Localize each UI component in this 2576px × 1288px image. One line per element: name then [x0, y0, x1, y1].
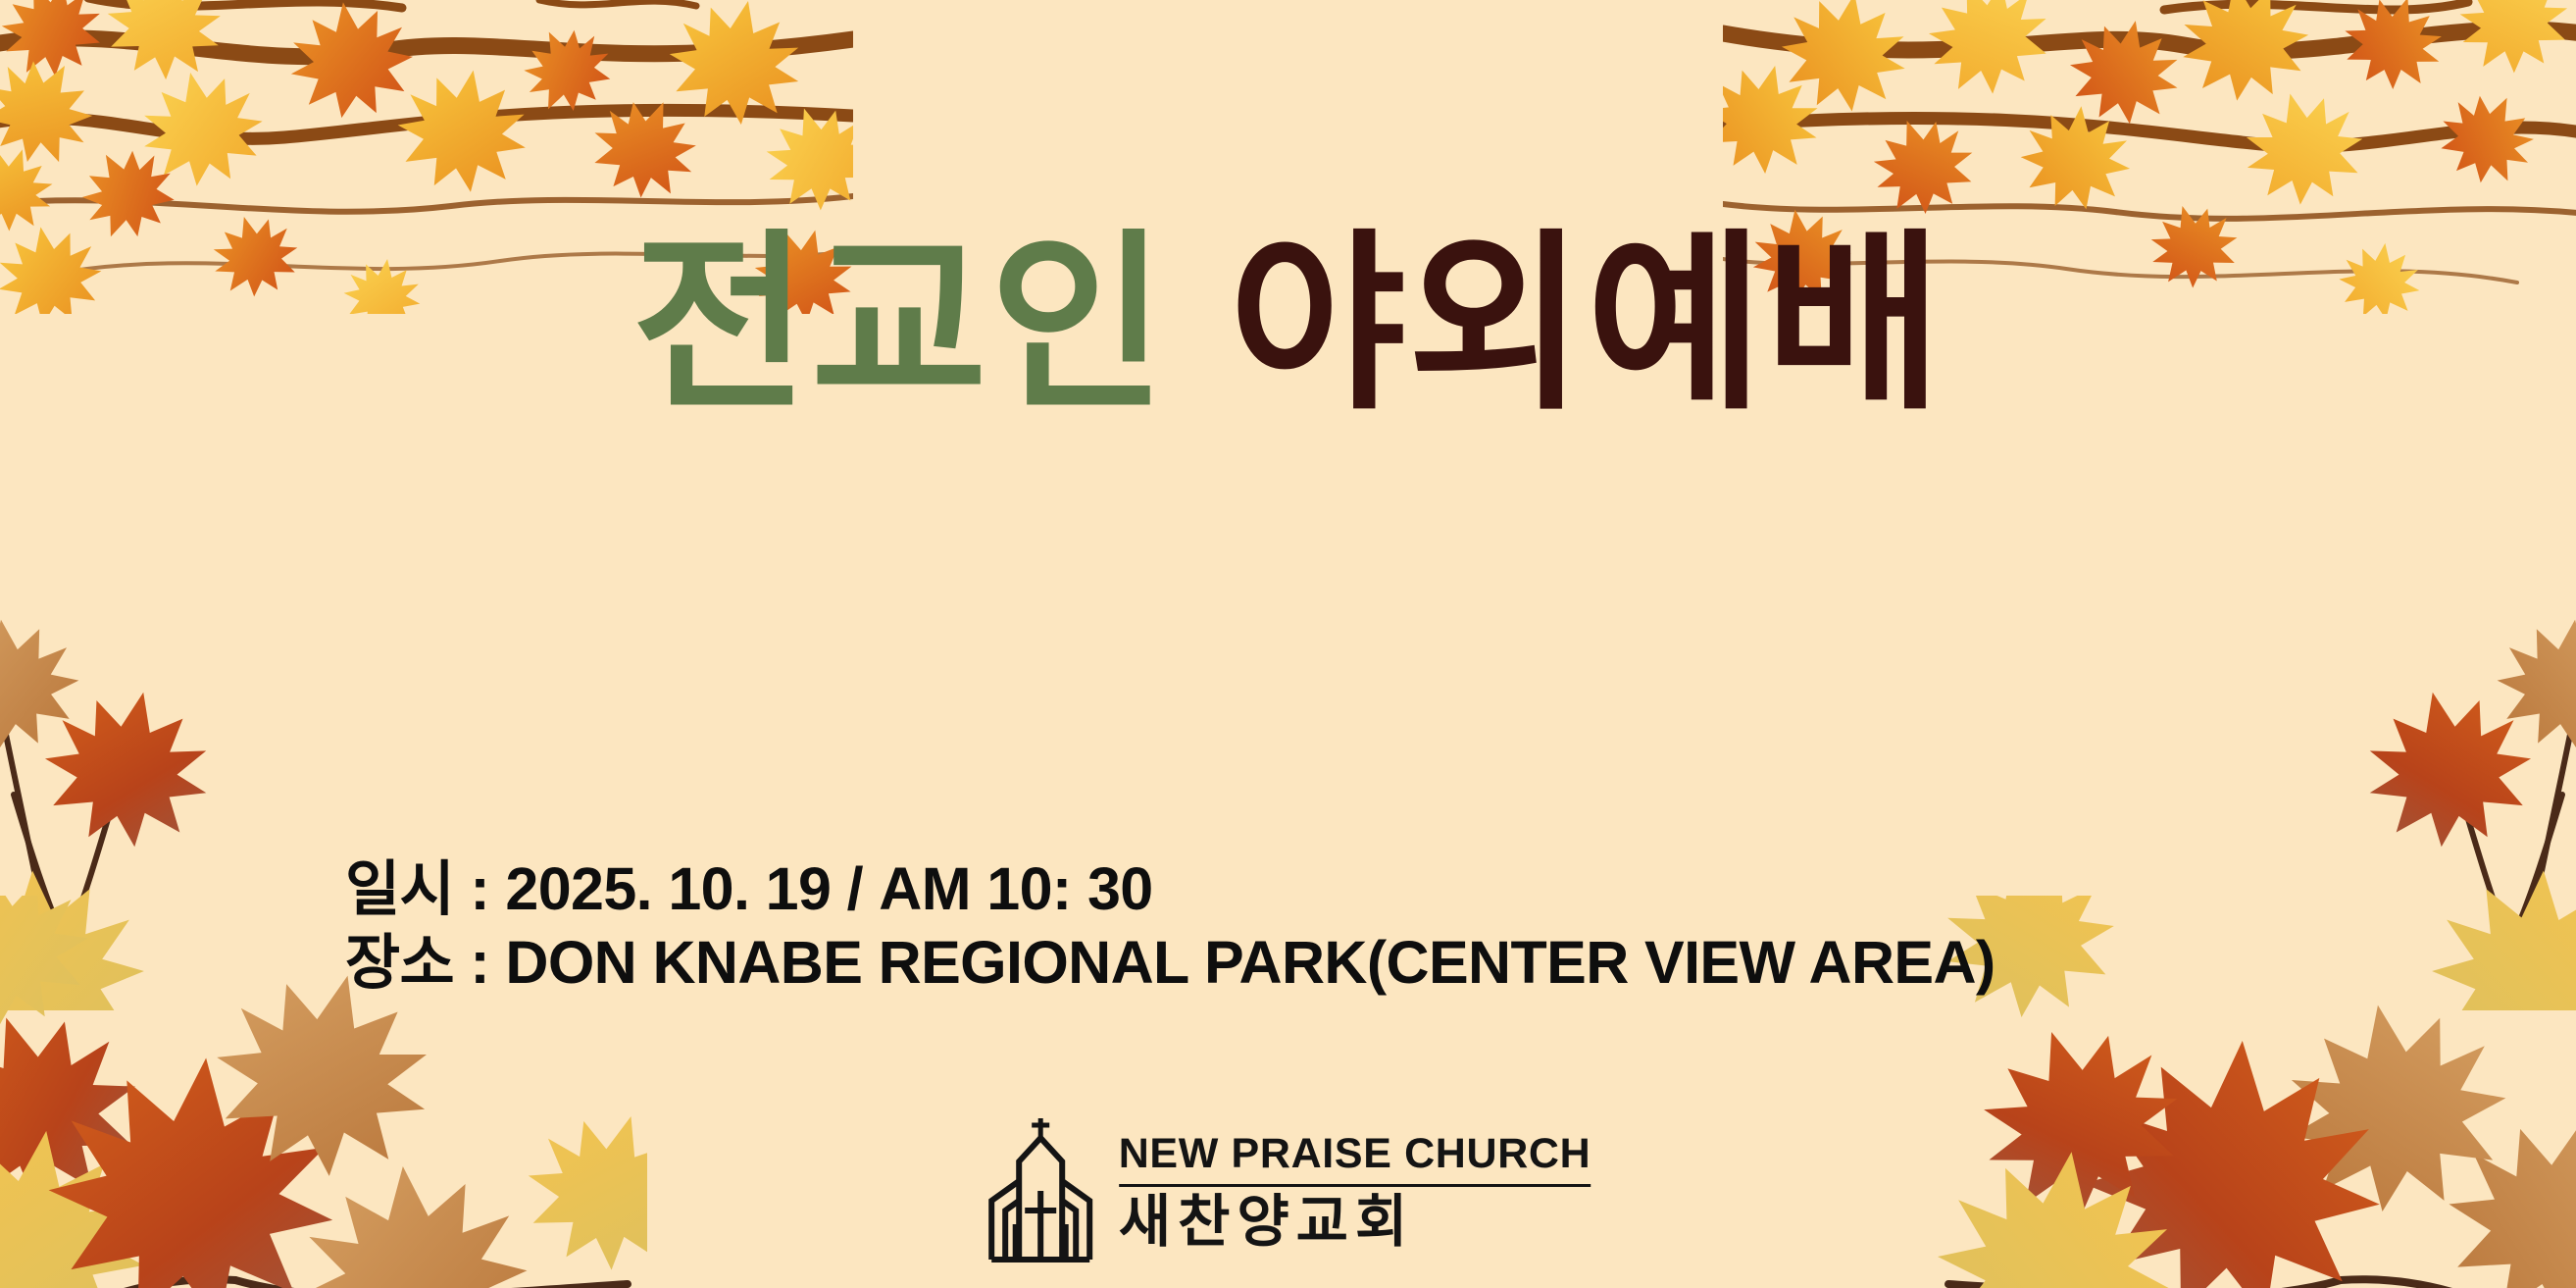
church-korean-name: 새찬양교회	[1119, 1193, 1591, 1253]
logo-divider	[1119, 1184, 1591, 1187]
poster-title: 전교인야외예배	[0, 224, 2576, 426]
title-green-segment: 전교인	[632, 224, 1169, 426]
event-datetime-line: 일시 : 2025. 10. 19 / AM 10: 30	[345, 859, 1995, 919]
church-icon	[985, 1114, 1095, 1271]
church-logo: NEW PRAISE CHURCH 새찬양교회	[985, 1114, 1591, 1271]
title-dark-segment: 야외예배	[1229, 224, 1944, 426]
church-english-name: NEW PRAISE CHURCH	[1119, 1133, 1591, 1175]
church-logo-text: NEW PRAISE CHURCH 새찬양교회	[1119, 1133, 1591, 1253]
poster-canvas: 전교인야외예배 일시 : 2025. 10. 19 / AM 10: 30 장소…	[0, 0, 2576, 1288]
event-location-line: 장소 : DON KNABE REGIONAL PARK(CENTER VIEW…	[345, 933, 1995, 993]
poster-content: 전교인야외예배 일시 : 2025. 10. 19 / AM 10: 30 장소…	[0, 0, 2576, 1288]
event-details: 일시 : 2025. 10. 19 / AM 10: 30 장소 : DON K…	[345, 859, 1995, 993]
